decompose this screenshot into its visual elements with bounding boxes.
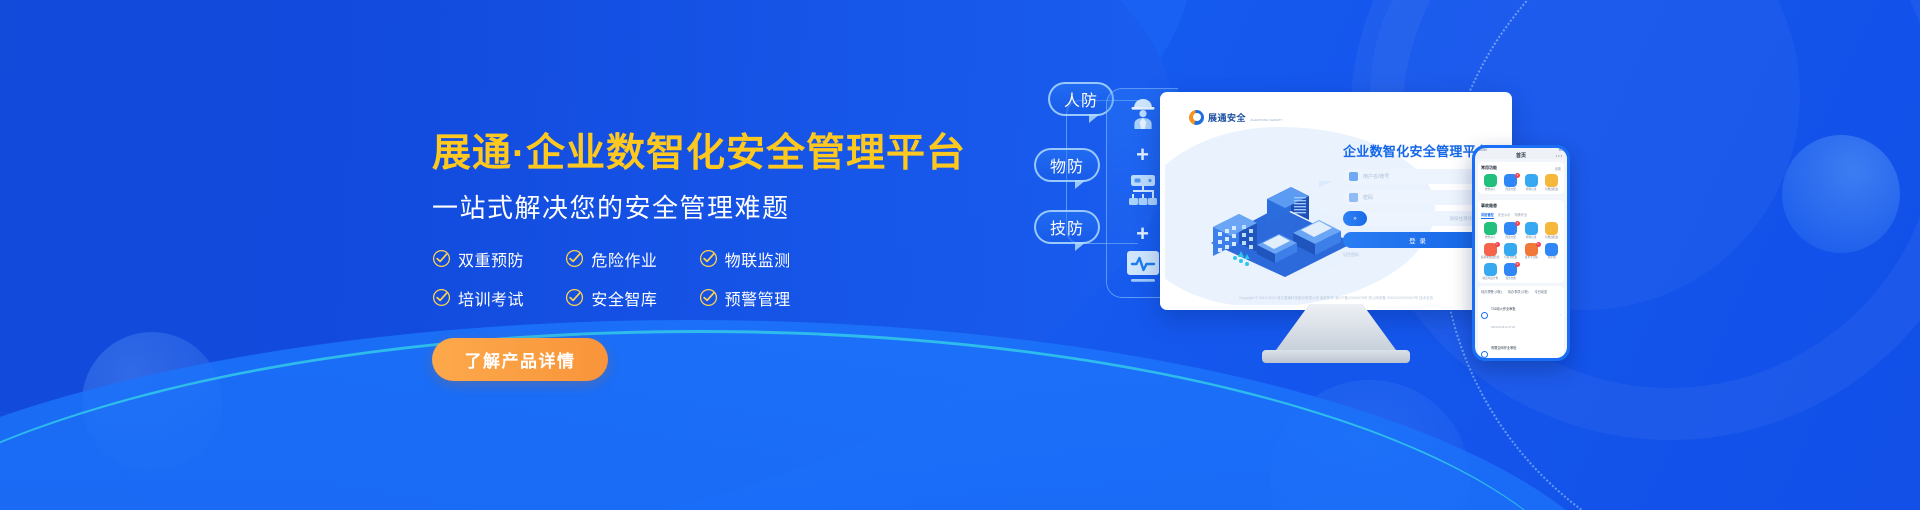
feature-label: 物联监测 — [725, 247, 791, 271]
todo-tab-alerts[interactable]: 待办预警 (3条) — [1481, 289, 1502, 294]
defense-badge-wufang[interactable]: 物防 — [1034, 148, 1100, 182]
feature-item-2: 物联监测 — [699, 247, 832, 271]
device-illustration: 人防 物防 技防 + — [1010, 70, 1650, 490]
defense-badge-jifang[interactable]: 技防 — [1034, 210, 1100, 244]
app-item[interactable]: 待整改隐患 — [1543, 174, 1562, 191]
desktop-monitor: 展通安全 ZHANTONG SAFETY — [1160, 92, 1512, 363]
app-label: 超期未整改隐患 — [1481, 257, 1499, 260]
badge-count: 9 — [1515, 262, 1520, 267]
inspection-record-icon — [1525, 222, 1538, 235]
check-circle-icon — [432, 288, 451, 307]
app-grid: 检查录入 3 隐患分配 检查记录 待整改隐 — [1481, 222, 1561, 280]
app-label: 任务台账 — [1506, 278, 1516, 281]
login-meta: 记住密码 忘记密码？ — [1343, 252, 1493, 258]
badge-count: 3 — [1515, 173, 1520, 178]
pending-hazard-icon — [1545, 222, 1558, 235]
app-item[interactable]: 制定年度计划 — [1481, 263, 1500, 280]
hero-copy: 展通·企业数智化安全管理平台 一站式解决您的安全管理难题 双重预防 — [432, 132, 992, 381]
feature-label: 危险作业 — [591, 247, 657, 271]
plus-operator-1: + — [1136, 144, 1149, 166]
feature-item-1: 危险作业 — [565, 247, 698, 271]
todo-tabs: 待办预警 (3条) 待办事项 (2条) 今日动态 — [1481, 289, 1561, 294]
pending-hazard-icon — [1545, 174, 1558, 187]
isometric-factory-illustration — [1201, 181, 1366, 277]
badge-count: 3 — [1515, 221, 1520, 226]
app-item[interactable]: 随手拍 — [1543, 243, 1562, 260]
feature-list: 双重预防 危险作业 — [432, 247, 832, 310]
username-placeholder: 用户名/账号 — [1363, 173, 1389, 180]
login-page: 展通安全 ZHANTONG SAFETY — [1165, 97, 1507, 305]
check-circle-icon — [699, 249, 718, 268]
feature-row: 培训考试 安全智库 — [432, 286, 832, 310]
app-label: 检查记录 — [1526, 189, 1536, 192]
list-item-time: 2024-05-28 11:47:46 — [1491, 326, 1515, 329]
feature-label: 安全智库 — [591, 286, 657, 310]
section-title: 常用功能 — [1481, 165, 1497, 171]
app-item[interactable]: 9 任务台账 — [1502, 263, 1521, 280]
phone-screen: 12:50 4G 首页 ••• 常用功能 设置 — [1475, 148, 1567, 358]
chevron-right-icon: › — [1560, 313, 1561, 317]
app-label: 待整改隐患 — [1545, 189, 1558, 192]
app-label: 隐患分配 — [1506, 237, 1516, 240]
page-subtitle: 一站式解决您的安全管理难题 — [432, 188, 992, 225]
feature-label: 培训考试 — [458, 286, 524, 310]
defense-badge-label: 技防 — [1050, 215, 1084, 239]
tab-special-operation[interactable]: 特殊作业 — [1515, 212, 1528, 219]
check-circle-icon — [699, 288, 718, 307]
app-item[interactable]: 检查录入 — [1481, 174, 1500, 191]
section-tabs: 风险管控 安全公示 特殊作业 — [1481, 212, 1561, 219]
tab-risk-control[interactable]: 风险管控 — [1481, 212, 1494, 219]
app-item[interactable]: 5 复查不合格 — [1522, 243, 1541, 260]
list-item[interactable]: 有限空间作业审批 2024-05-28 11:40:15 › — [1481, 336, 1561, 358]
monitor-screen: 展通安全 ZHANTONG SAFETY — [1165, 97, 1507, 305]
feature-row: 双重预防 危险作业 — [432, 247, 832, 271]
inspection-entry-icon — [1484, 174, 1497, 187]
annual-plan-icon — [1484, 263, 1497, 276]
defense-badge-label: 物防 — [1050, 153, 1084, 177]
login-title: 企业数智化安全管理平台 — [1343, 141, 1493, 160]
app-label: 隐患分配 — [1506, 189, 1516, 192]
app-label: 检查录入 — [1485, 189, 1495, 192]
feature-item-5: 预警管理 — [699, 286, 832, 310]
password-placeholder: 密码 — [1363, 194, 1373, 201]
captcha-slider[interactable]: » 请按住滑块拖动 — [1343, 211, 1493, 226]
page-title: 展通·企业数智化安全管理平台 — [432, 132, 992, 176]
app-label: 检查录入 — [1485, 237, 1495, 240]
list-item-title: T02动火作业审批 — [1491, 307, 1516, 311]
mobile-phone-mockup: 12:50 4G 首页 ••• 常用功能 设置 — [1472, 145, 1570, 361]
brand-logo: 展通安全 ZHANTONG SAFETY — [1189, 108, 1283, 126]
phone-section-incident: 事故隐患 风险管控 安全公示 特殊作业 检查录入 — [1478, 200, 1564, 283]
app-grid: 检查录入 3 隐患分配 检查记录 待整改隐 — [1481, 174, 1561, 191]
slider-knob[interactable]: » — [1343, 211, 1367, 226]
badge-count: 5 — [1536, 242, 1541, 247]
circle-icon — [1481, 351, 1488, 358]
tab-safety-notice[interactable]: 安全公示 — [1498, 212, 1511, 219]
learn-more-button[interactable]: 了解产品详情 — [432, 338, 608, 381]
app-item[interactable]: 3 隐患分配 — [1502, 222, 1521, 239]
app-item[interactable]: 检查记录 — [1522, 174, 1541, 191]
check-circle-icon — [432, 249, 451, 268]
list-item[interactable]: T02动火作业审批 2024-05-28 11:47:46 › — [1481, 297, 1561, 333]
monitor-pulse-icon — [1124, 249, 1162, 290]
section-settings-link[interactable]: 设置 — [1555, 166, 1561, 171]
inspection-record-icon — [1525, 174, 1538, 187]
feature-item-3: 培训考试 — [432, 286, 565, 310]
circle-icon — [1481, 312, 1488, 319]
feature-item-0: 双重预防 — [432, 247, 565, 271]
app-label: 检查记录 — [1526, 237, 1536, 240]
monitor-foot — [1276, 304, 1396, 350]
recheck-hazard-icon — [1504, 243, 1517, 256]
remember-password-checkbox[interactable]: 记住密码 — [1343, 252, 1359, 258]
app-item[interactable]: 待整改隐患 — [1543, 222, 1562, 239]
list-item-title: 有限空间作业审批 — [1491, 346, 1517, 350]
monitor-base — [1262, 350, 1410, 363]
app-label: 制定年度计划 — [1482, 278, 1498, 281]
app-item[interactable]: 检查录入 — [1481, 222, 1500, 239]
login-button[interactable]: 登 录 — [1343, 232, 1493, 248]
section-header: 常用功能 设置 — [1481, 165, 1561, 171]
logo-name-cn: 展通安全 — [1208, 113, 1246, 123]
app-label: 待整改隐患 — [1545, 237, 1558, 240]
lock-icon — [1349, 193, 1358, 202]
logo-name-en: ZHANTONG SAFETY — [1250, 118, 1282, 122]
app-label: 随手拍 — [1548, 257, 1556, 260]
check-circle-icon — [565, 288, 584, 307]
device-network-icon — [1125, 173, 1161, 212]
username-field[interactable]: 用户名/账号 — [1343, 169, 1493, 184]
password-field[interactable]: 密码 — [1343, 190, 1493, 205]
bg-circle-left — [82, 332, 222, 472]
logo-mark-icon — [1189, 110, 1204, 125]
helmet-worker-icon — [1126, 95, 1160, 136]
feature-item-4: 安全智库 — [565, 286, 698, 310]
chevron-right-icon: › — [1560, 352, 1561, 356]
hero-banner: 展通·企业数智化安全管理平台 一站式解决您的安全管理难题 双重预防 — [0, 0, 1920, 510]
phone-nav-more-icon[interactable]: ••• — [1556, 153, 1563, 158]
feature-label: 预警管理 — [725, 286, 791, 310]
section-title: 事故隐患 — [1481, 203, 1497, 209]
phone-todo-list: 待办预警 (3条) 待办事项 (2条) 今日动态 T02动火作业审批 2024-… — [1478, 286, 1564, 358]
feature-label: 双重预防 — [458, 247, 524, 271]
app-item[interactable]: 检查记录 — [1522, 222, 1541, 239]
todo-tab-tasks[interactable]: 待办事项 (2条) — [1508, 289, 1529, 294]
copyright-text: Copyright © 2019-2024 浙江展通科技股份有限公司 版权所有 … — [1165, 295, 1507, 300]
app-item[interactable]: 待复查隐患 — [1502, 243, 1521, 260]
todo-tab-today[interactable]: 今日动态 — [1534, 289, 1547, 294]
camera-icon — [1545, 243, 1558, 256]
check-circle-icon — [565, 249, 584, 268]
inspection-entry-icon — [1484, 222, 1497, 235]
section-header: 事故隐患 — [1481, 203, 1561, 209]
phone-section-common: 常用功能 设置 检查录入 3 隐患分配 — [1478, 162, 1564, 194]
app-label: 复查不合格 — [1525, 257, 1538, 260]
bg-orb-right — [1782, 135, 1900, 253]
monitor-bezel: 展通安全 ZHANTONG SAFETY — [1160, 92, 1512, 310]
logo-text: 展通安全 ZHANTONG SAFETY — [1208, 108, 1283, 126]
app-item[interactable]: 2 超期未整改隐患 — [1481, 243, 1500, 260]
defense-badge-label: 人防 — [1064, 87, 1098, 111]
app-item[interactable]: 3 隐患分配 — [1502, 174, 1521, 191]
badge-count: 2 — [1495, 242, 1500, 247]
login-form: 企业数智化安全管理平台 用户名/账号 密码 » — [1343, 141, 1493, 258]
app-label: 待复查隐患 — [1504, 257, 1517, 260]
plus-operator-2: + — [1136, 223, 1149, 245]
phone-nav-bar: 首页 ••• — [1475, 152, 1567, 159]
user-icon — [1349, 172, 1358, 181]
phone-nav-title: 首页 — [1516, 152, 1526, 159]
defense-badge-renfang[interactable]: 人防 — [1048, 82, 1114, 116]
